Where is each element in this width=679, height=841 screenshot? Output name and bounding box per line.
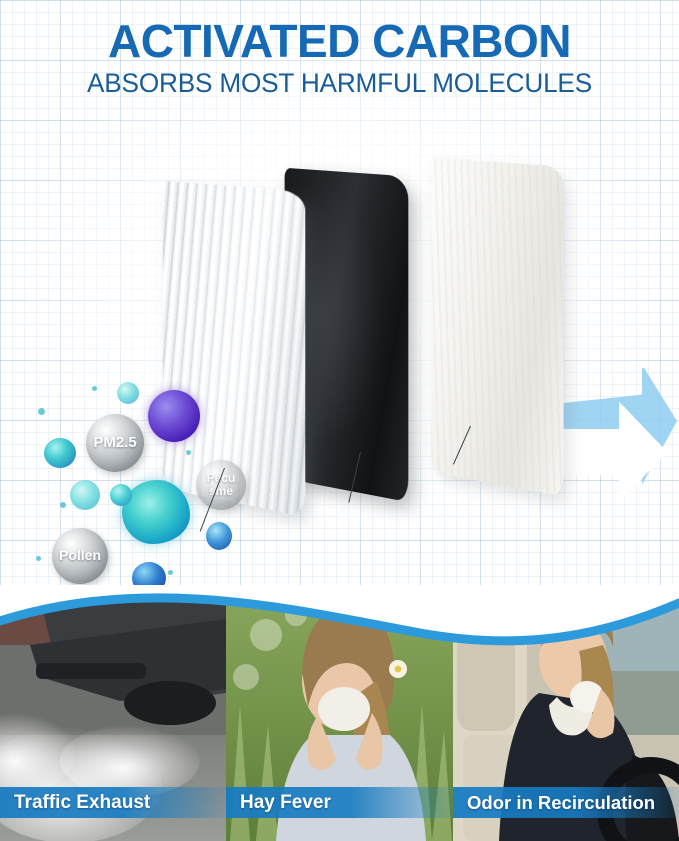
particle-dot: [60, 502, 66, 508]
photo-hay-fever: Hay Fever: [226, 585, 453, 841]
peculiar-smell-sphere: Pecusme: [196, 460, 246, 510]
filter-layers-diagram: Pecusme PM2.5 Pollen electrostatic cotto…: [0, 150, 679, 570]
germ-particle-spiky: [70, 480, 100, 510]
page-title: ACTIVATED CARBON: [0, 18, 679, 65]
filter-layer-long-fiber: [432, 158, 564, 497]
particle-dot: [186, 450, 191, 455]
germ-particle-teal-small: [117, 382, 139, 404]
particle-dot: [168, 570, 173, 575]
germ-particle-cyan-small: [110, 484, 132, 506]
pm25-label: PM2.5: [93, 435, 136, 451]
pollen-sphere: Pollen: [52, 528, 108, 584]
germ-particle-cyan: [44, 438, 76, 468]
particle-dot: [92, 386, 97, 391]
pollen-label: Pollen: [59, 548, 101, 563]
page-subtitle: ABSORBS MOST HARMFUL MOLECULES: [10, 69, 669, 97]
germ-particle-teal-large: [122, 480, 190, 544]
caption-traffic-exhaust: Traffic Exhaust: [0, 787, 226, 818]
germ-particle-blue-right: [206, 522, 232, 550]
germ-particle-purple: [148, 390, 200, 442]
caption-hay-fever: Hay Fever: [226, 787, 453, 818]
particle-dot: [36, 556, 41, 561]
caption-odor-recirculation: Odor in Recirculation: [453, 787, 679, 818]
header: ACTIVATED CARBON ABSORBS MOST HARMFUL MO…: [0, 18, 679, 97]
photo-traffic-exhaust: Traffic Exhaust: [0, 585, 226, 841]
particle-dot: [38, 408, 45, 415]
photo-odor-recirculation: Odor in Recirculation: [453, 585, 679, 841]
photo-strip: Traffic Exhaust: [0, 585, 679, 841]
pm25-sphere: PM2.5: [86, 414, 144, 472]
